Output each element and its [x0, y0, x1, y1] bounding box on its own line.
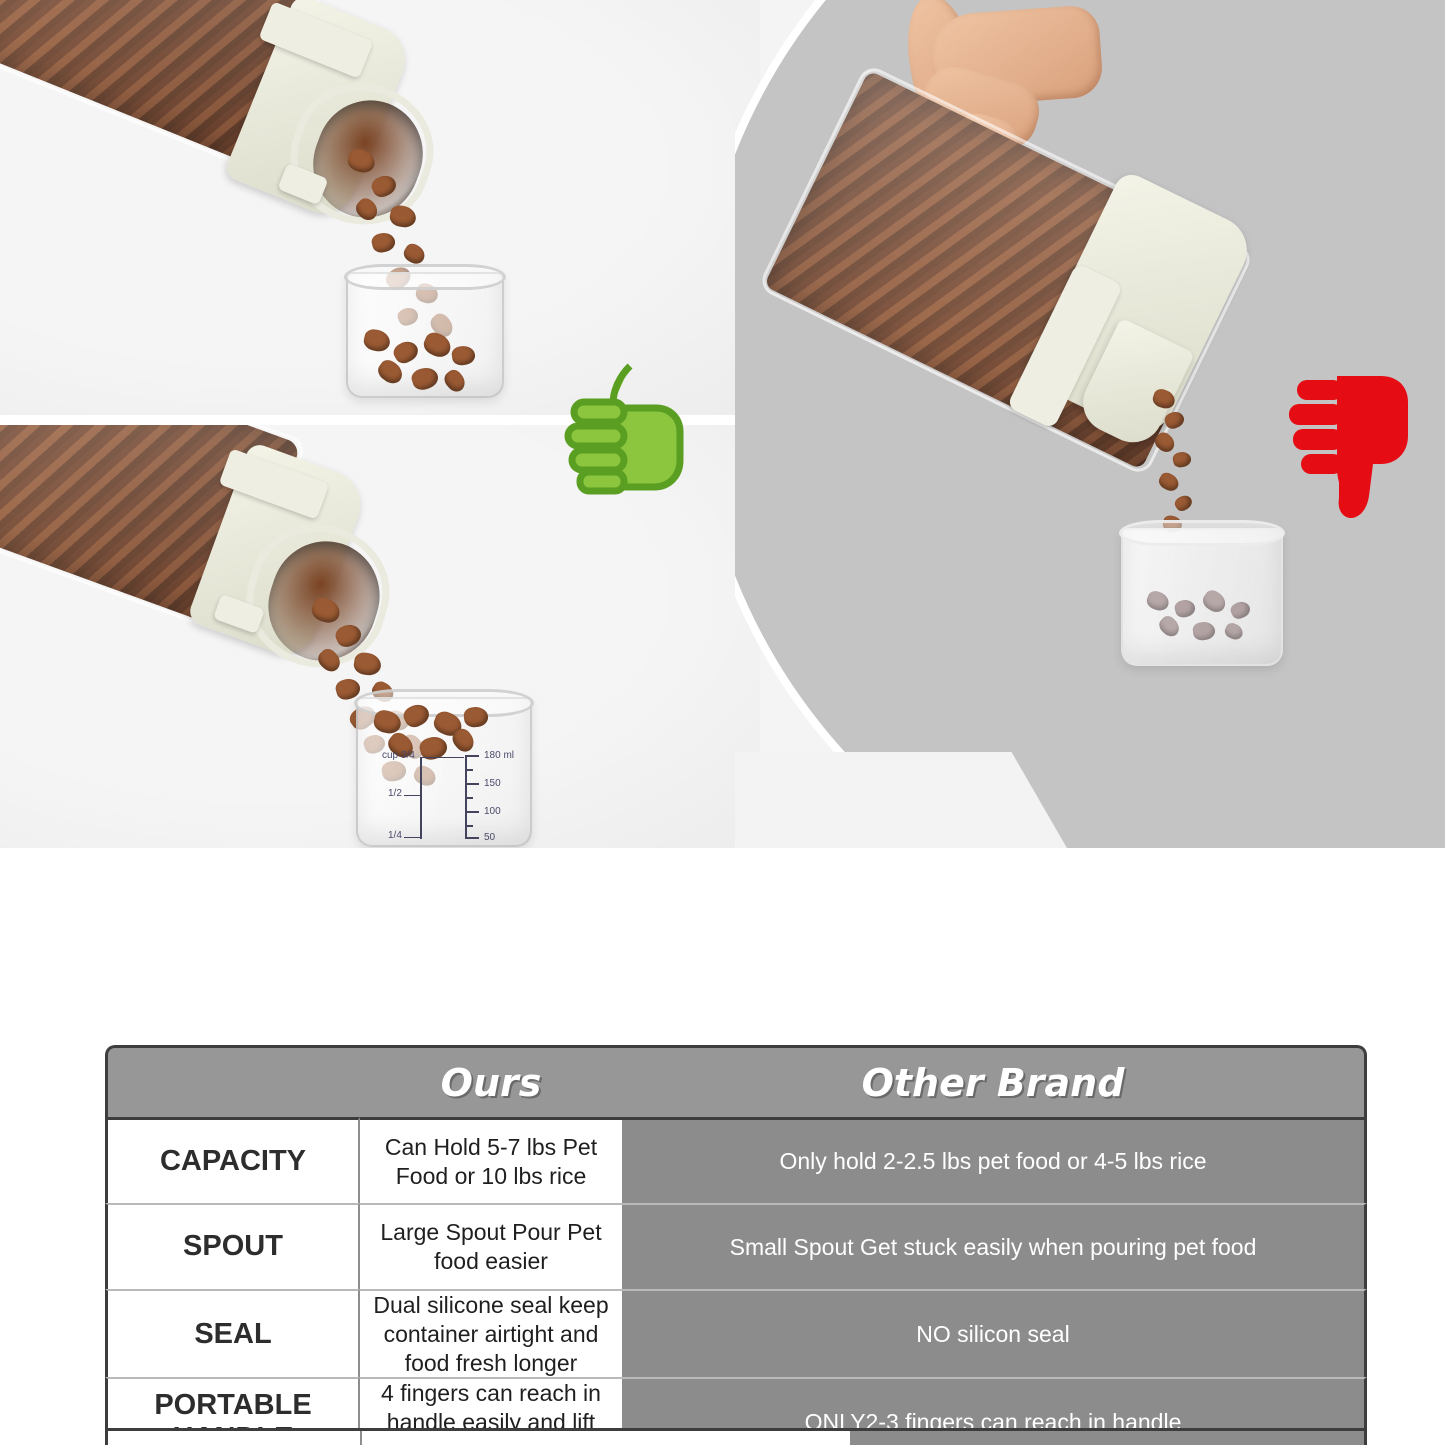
table-row: CAPACITY Can Hold 5-7 lbs Pet Food or 10…	[105, 1117, 1367, 1203]
row-other-spout: Small Spout Get stuck easily when pourin…	[622, 1203, 1367, 1289]
table-header-other: Other Brand	[622, 1045, 1367, 1117]
product-photo-collage: cup 3/4 1/2 1/4 180 ml 150 100 50	[0, 0, 1445, 852]
cup-rim	[1119, 520, 1285, 546]
cup-mark-right-3: 50	[484, 833, 495, 843]
thumbs-down-icon	[1277, 372, 1427, 522]
row-feature-capacity: CAPACITY	[105, 1117, 360, 1203]
row-ours-seal: Dual silicone seal keep container airtig…	[360, 1289, 622, 1377]
infographic-page: cup 3/4 1/2 1/4 180 ml 150 100 50	[0, 0, 1445, 1445]
cup-mark-left-0: cup 3/4	[382, 751, 415, 761]
row-ours-capacity: Can Hold 5-7 lbs Pet Food or 10 lbs rice	[360, 1117, 622, 1203]
row-feature-seal: SEAL	[105, 1289, 360, 1377]
cup-mark-right-2: 100	[484, 807, 501, 817]
cup-leader-line	[420, 757, 464, 758]
table-row: SPOUT Large Spout Pour Pet food easier S…	[105, 1203, 1367, 1289]
table-next-row-partial	[105, 1428, 1367, 1445]
cup-tick	[465, 755, 479, 757]
cup-tick	[465, 769, 473, 771]
headline-section: How To Choose A Good Portable PET FOOD C…	[0, 852, 1445, 1042]
cup-mark-right-0: 180 ml	[484, 751, 514, 761]
cup-rim	[344, 264, 506, 290]
cup-tick	[465, 811, 479, 813]
table-foot-divider	[360, 1431, 362, 1445]
table-header-ours: Ours	[360, 1045, 622, 1117]
cup-mark-left-1: 1/2	[388, 789, 402, 799]
row-other-seal: NO silicon seal	[622, 1289, 1367, 1377]
measuring-cup-bad	[1121, 528, 1283, 666]
photo-good-pouring-top	[0, 0, 760, 415]
table-foot-other-cell	[850, 1431, 1364, 1445]
table-header-feature	[105, 1045, 360, 1117]
cup-mark-left-2: 1/4	[388, 831, 402, 841]
thumbs-up-icon	[556, 356, 692, 496]
cup-tick	[465, 837, 479, 839]
kibble-piece	[388, 204, 417, 229]
kibble-piece	[370, 231, 397, 255]
kibble-piece	[353, 651, 383, 677]
cup-tick	[465, 783, 479, 785]
table-header-row: Ours Other Brand	[105, 1045, 1367, 1117]
cup-leader-line	[404, 837, 422, 838]
cup-tick	[465, 825, 473, 827]
cup-mark-right-1: 150	[484, 779, 501, 789]
cup-leader-line	[404, 795, 422, 796]
row-feature-spout: SPOUT	[105, 1203, 360, 1289]
cup-leader-line	[420, 757, 422, 839]
cup-tick	[465, 797, 473, 799]
comparison-table: Ours Other Brand CAPACITY Can Hold 5-7 l…	[105, 1045, 1367, 1445]
row-ours-spout: Large Spout Pour Pet food easier	[360, 1203, 622, 1289]
row-other-capacity: Only hold 2-2.5 lbs pet food or 4-5 lbs …	[622, 1117, 1367, 1203]
table-row: SEAL Dual silicone seal keep container a…	[105, 1289, 1367, 1377]
